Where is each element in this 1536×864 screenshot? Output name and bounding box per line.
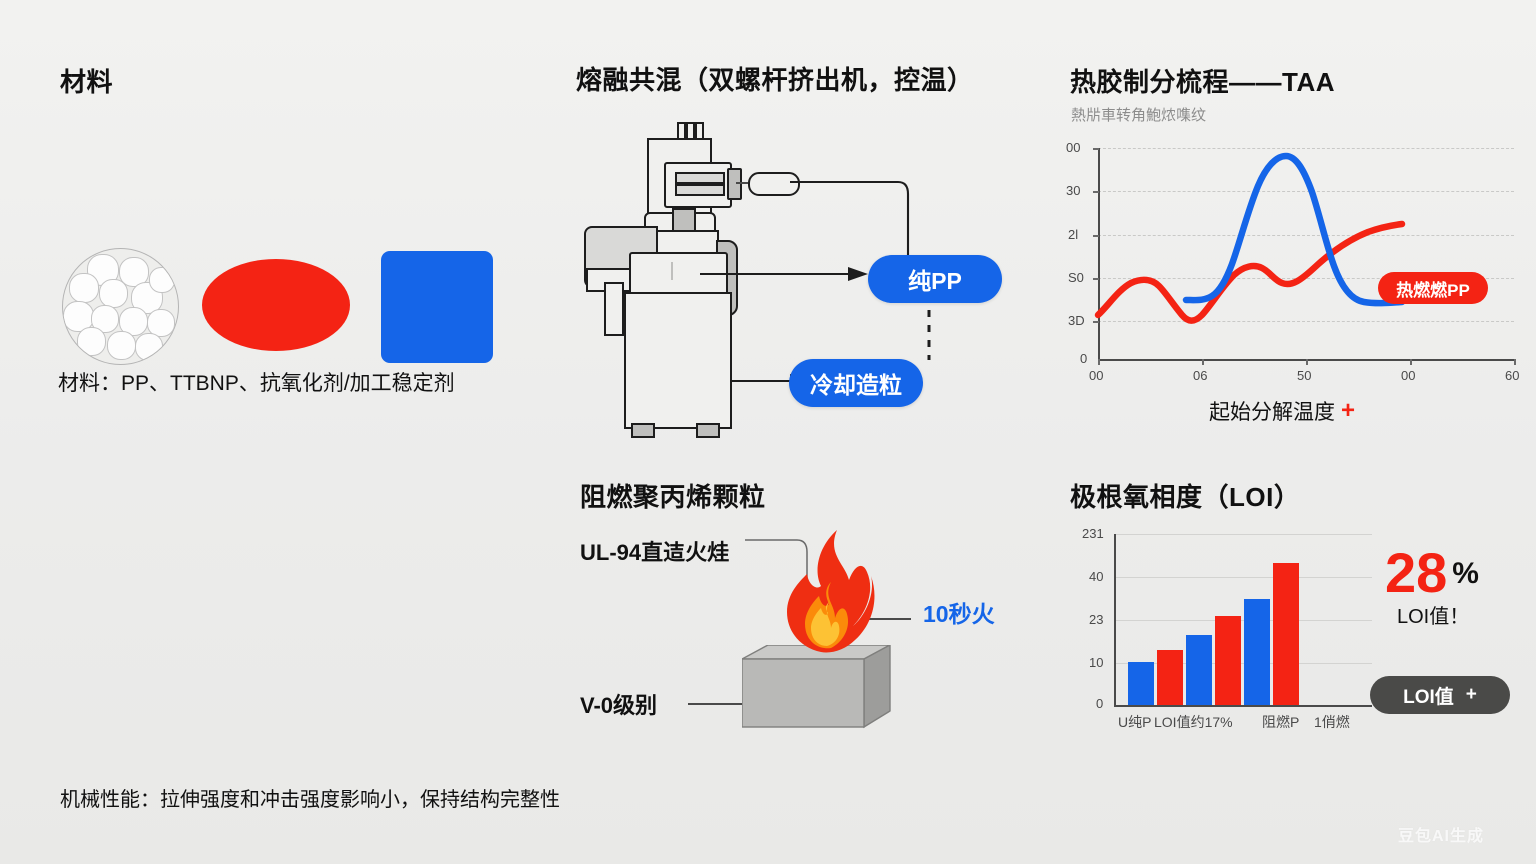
- tga-xlabel-group: 起始分解温度 +: [1209, 396, 1355, 426]
- loi-ytick-2: 23: [1089, 612, 1103, 627]
- flame-icon: [775, 528, 885, 663]
- loi-bar-4: [1215, 616, 1241, 705]
- tga-curves: [1062, 140, 1522, 385]
- blue-square-icon: [381, 251, 493, 363]
- loi-badge[interactable]: LOI值 +: [1370, 676, 1510, 714]
- loi-bar-5: [1244, 599, 1270, 705]
- loi-bar-1: [1128, 662, 1154, 705]
- loi-ytick-1: 40: [1089, 569, 1103, 584]
- loi-percent-sign: %: [1452, 557, 1479, 591]
- watermark: 豆包AI生成: [1398, 822, 1484, 846]
- loi-xtick-2: 阻燃P: [1262, 712, 1299, 732]
- red-ellipse-icon: [202, 259, 350, 351]
- loi-ytick-3: 10: [1089, 655, 1103, 670]
- loi-xtick-0: U纯P: [1118, 712, 1151, 732]
- pill-pure-pp[interactable]: 纯PP: [868, 255, 1002, 303]
- plus-icon-loi: +: [1466, 684, 1477, 706]
- loi-badge-label: LOI值: [1403, 682, 1454, 709]
- materials-caption: 材料：PP、TTBNP、抗氧化剂/加工稳定剂: [58, 367, 455, 397]
- loi-xtick-1: LOI值约17%: [1154, 712, 1233, 732]
- footer-caption: 机械性能：拉伸强度和冲击强度影响小，保持结构完整性: [60, 783, 560, 812]
- extruder-title: 熔融共混（双螺杆挤出机，控温）: [576, 60, 974, 97]
- pill-cooling-pelletizing[interactable]: 冷却造粒: [789, 359, 923, 407]
- v0-label: V-0级别: [580, 688, 657, 720]
- tga-chart: 00 30 2l S0 3D 0 00 06 50 00 60: [1062, 140, 1522, 385]
- loi-ytick-0: 231: [1082, 526, 1104, 541]
- pellet-circle-icon: [62, 248, 179, 365]
- loi-highlight-caption: LOI值！: [1397, 600, 1469, 629]
- tga-xlabel: 起始分解温度: [1209, 396, 1335, 426]
- arrow-to-pure-pp: [700, 266, 870, 282]
- loi-bar-2: [1157, 650, 1183, 705]
- loi-bar-6: [1273, 563, 1299, 705]
- loi-xtick-3: 1俏燃: [1314, 712, 1350, 732]
- leader-line-v0: [688, 703, 746, 705]
- tga-subtitle: 熱㸞車转角鮑㶶㗱纹: [1071, 104, 1206, 125]
- loi-title: 极根氧相度（LOI）: [1070, 477, 1300, 514]
- dashed-connector: [923, 310, 935, 360]
- flame-title: 阻燃聚丙烯颗粒: [580, 477, 766, 514]
- tga-title: 热㬵制分梳程——TAA: [1070, 62, 1335, 99]
- plus-icon-tga: +: [1341, 397, 1355, 425]
- loi-chart: 231 40 23 10 0 U纯P LOI值约17% 阻燃P 1俏燃: [1062, 530, 1382, 730]
- tga-badge[interactable]: 热燃燃PP: [1378, 272, 1488, 304]
- loi-big-number: 28: [1385, 545, 1447, 601]
- slide-stage: 材料 材料：PP、TTBNP、抗氧化剂/加工稳定剂 熔融共混（双螺杆挤出机，控温…: [0, 0, 1536, 864]
- loi-highlight-value: 28 %: [1385, 545, 1479, 601]
- materials-title: 材料: [60, 62, 113, 99]
- ul94-label: UL-94直迼火烓: [580, 535, 729, 567]
- loi-bar-3: [1186, 635, 1212, 705]
- ten-second-flame-label: 10秒火: [923, 595, 995, 629]
- loi-ytick-4: 0: [1096, 696, 1103, 711]
